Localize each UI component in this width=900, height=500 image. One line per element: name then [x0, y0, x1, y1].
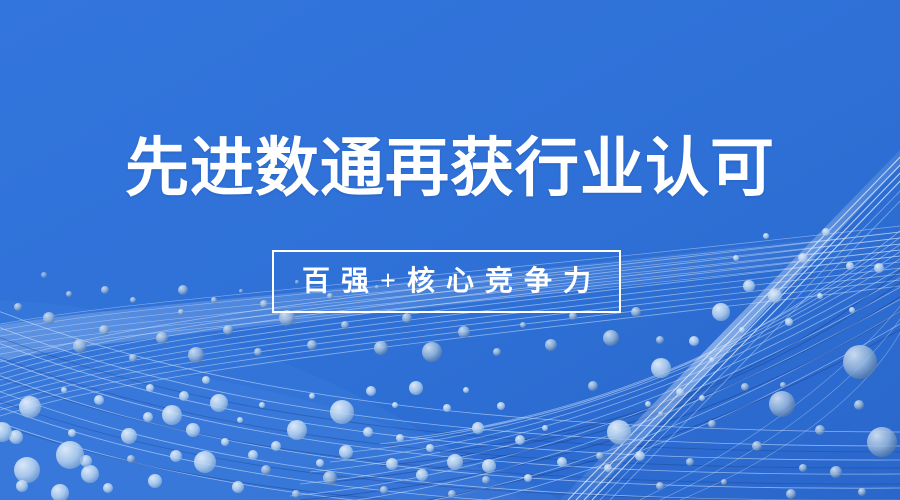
promo-banner: 先进数通再获行业认可 百强+核心竞争力	[0, 0, 900, 500]
banner-content: 先进数通再获行业认可 百强+核心竞争力	[0, 0, 900, 500]
subtitle-badge: 百强+核心竞争力	[272, 250, 621, 313]
page-title: 先进数通再获行业认可	[0, 133, 900, 205]
subtitle-text: 百强+核心竞争力	[291, 266, 602, 298]
